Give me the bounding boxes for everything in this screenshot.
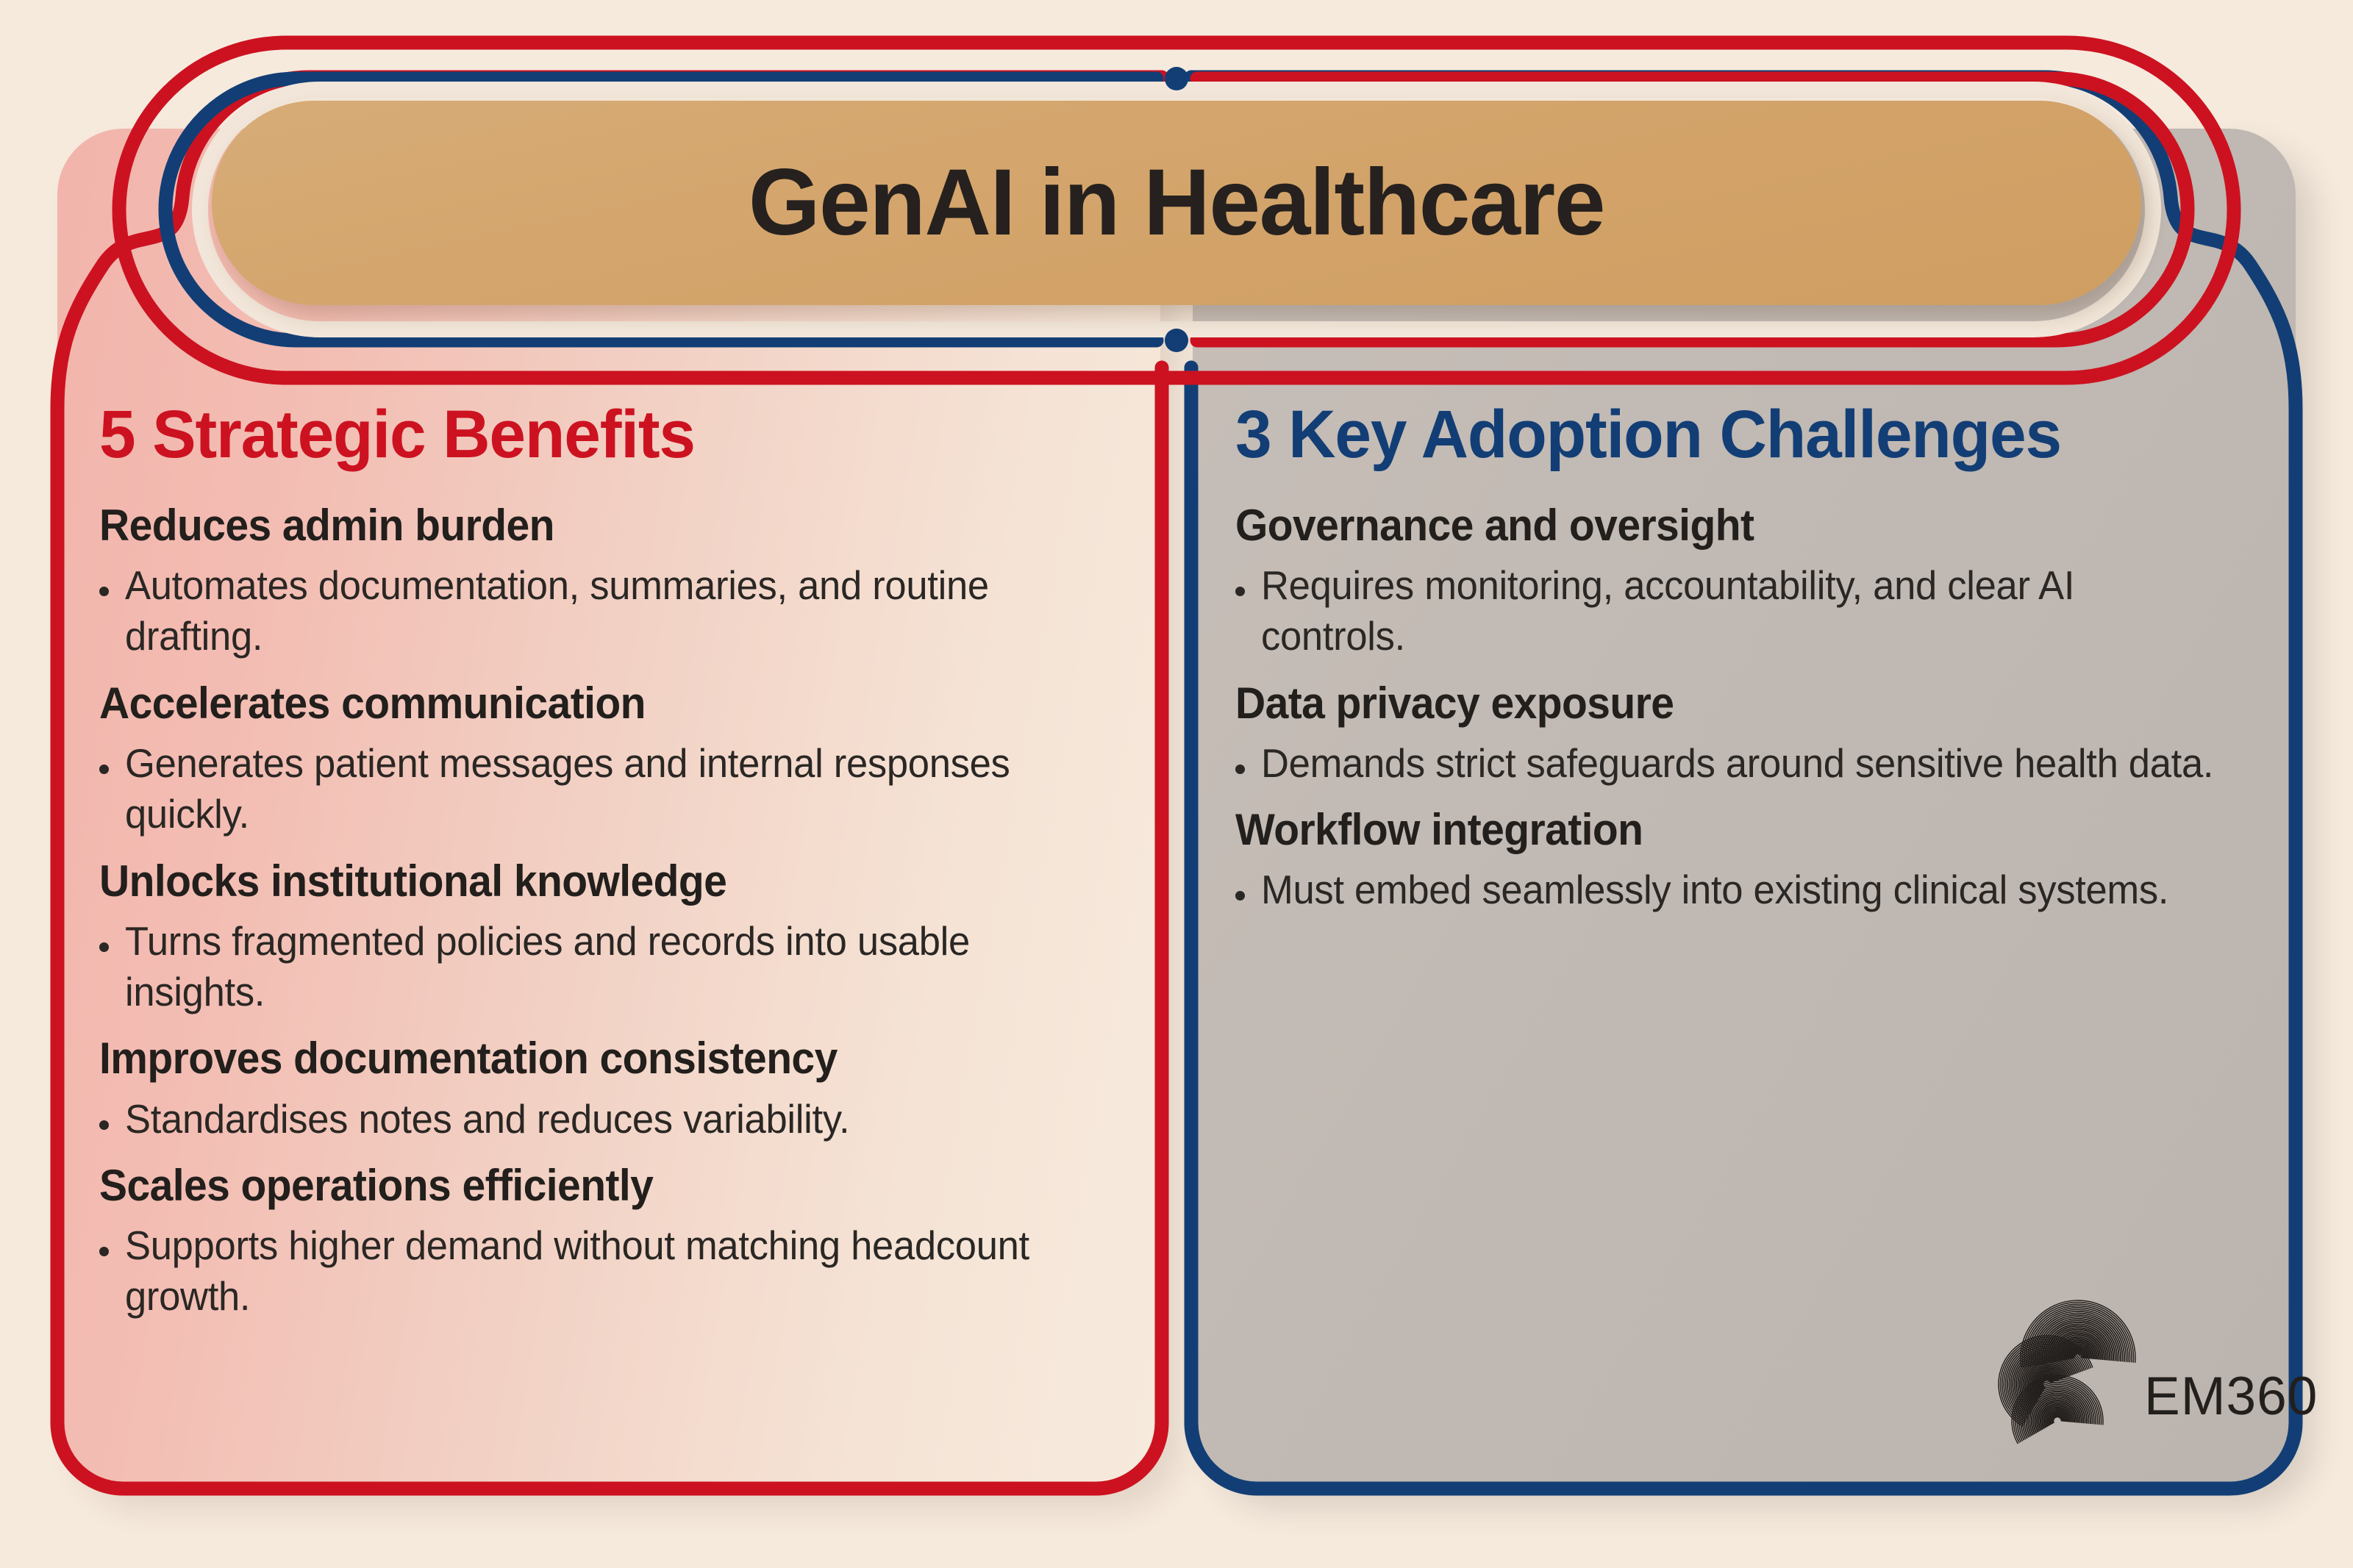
challenge-title: Workflow integration — [1235, 805, 2221, 854]
bullet-dot-icon — [99, 1247, 109, 1256]
bullet-dot-icon — [99, 765, 109, 774]
bullet-dot-icon — [99, 587, 109, 596]
challenge-title: Governance and oversight — [1235, 501, 2221, 550]
challenge-group: Data privacy exposure Demands strict saf… — [1235, 679, 2272, 789]
benefit-group: Scales operations efficiently Supports h… — [99, 1161, 1129, 1322]
benefit-group: Improves documentation consistency Stand… — [99, 1034, 1129, 1144]
benefit-detail: Turns fragmented policies and records in… — [125, 916, 1084, 1018]
list-item: Automates documentation, summaries, and … — [99, 560, 1129, 662]
em360-spiral-mark — [1990, 1297, 2137, 1467]
benefit-detail: Supports higher demand without matching … — [125, 1220, 1084, 1322]
bullet-dot-icon — [99, 942, 109, 952]
benefit-title: Unlocks institutional knowledge — [99, 856, 1077, 906]
challenge-detail: Demands strict safeguards around sensiti… — [1261, 738, 2227, 789]
benefit-title: Accelerates communication — [99, 679, 1077, 728]
benefit-detail: Generates patient messages and internal … — [125, 738, 1084, 840]
benefit-group: Accelerates communication Generates pati… — [99, 679, 1129, 840]
list-item: Requires monitoring, accountability, and… — [1235, 560, 2272, 662]
challenges-column: 3 Key Adoption Challenges Governance and… — [1235, 401, 2272, 932]
list-item: Generates patient messages and internal … — [99, 738, 1129, 840]
benefit-title: Improves documentation consistency — [99, 1034, 1077, 1083]
ring-junction-dot-top — [1165, 67, 1188, 90]
challenge-group: Governance and oversight Requires monito… — [1235, 501, 2272, 662]
challenge-title: Data privacy exposure — [1235, 679, 2221, 728]
list-item: Turns fragmented policies and records in… — [99, 916, 1129, 1018]
list-item: Standardises notes and reduces variabili… — [99, 1094, 1129, 1145]
em360-logo: EM360 — [1990, 1294, 2284, 1470]
challenge-group: Workflow integration Must embed seamless… — [1235, 805, 2272, 915]
benefit-title: Reduces admin burden — [99, 501, 1077, 550]
bullet-dot-icon — [99, 1120, 109, 1130]
infographic-canvas: GenAI in Healthcare 5 Strategic Benefits… — [0, 0, 2353, 1568]
page-title: GenAI in Healthcare — [749, 156, 1604, 250]
list-item: Supports higher demand without matching … — [99, 1220, 1129, 1322]
list-item: Demands strict safeguards around sensiti… — [1235, 738, 2272, 789]
benefit-title: Scales operations efficiently — [99, 1161, 1077, 1210]
bullet-dot-icon — [1235, 891, 1245, 901]
ring-junction-dot-bottom — [1165, 329, 1188, 352]
benefit-detail: Automates documentation, summaries, and … — [125, 560, 1084, 662]
benefits-heading: 5 Strategic Benefits — [99, 401, 1098, 468]
challenges-heading: 3 Key Adoption Challenges — [1235, 401, 2241, 468]
benefit-detail: Standardises notes and reduces variabili… — [125, 1094, 1084, 1145]
benefit-group: Unlocks institutional knowledge Turns fr… — [99, 856, 1129, 1018]
bullet-dot-icon — [1235, 765, 1245, 774]
em360-wordmark: EM360 — [2144, 1366, 2318, 1427]
benefit-group: Reduces admin burden Automates documenta… — [99, 501, 1129, 662]
challenge-detail: Requires monitoring, accountability, and… — [1261, 560, 2227, 662]
title-capsule: GenAI in Healthcare — [212, 101, 2141, 305]
bullet-dot-icon — [1235, 587, 1245, 596]
list-item: Must embed seamlessly into existing clin… — [1235, 864, 2272, 915]
benefits-column: 5 Strategic Benefits Reduces admin burde… — [99, 401, 1129, 1339]
challenge-detail: Must embed seamlessly into existing clin… — [1261, 864, 2227, 915]
